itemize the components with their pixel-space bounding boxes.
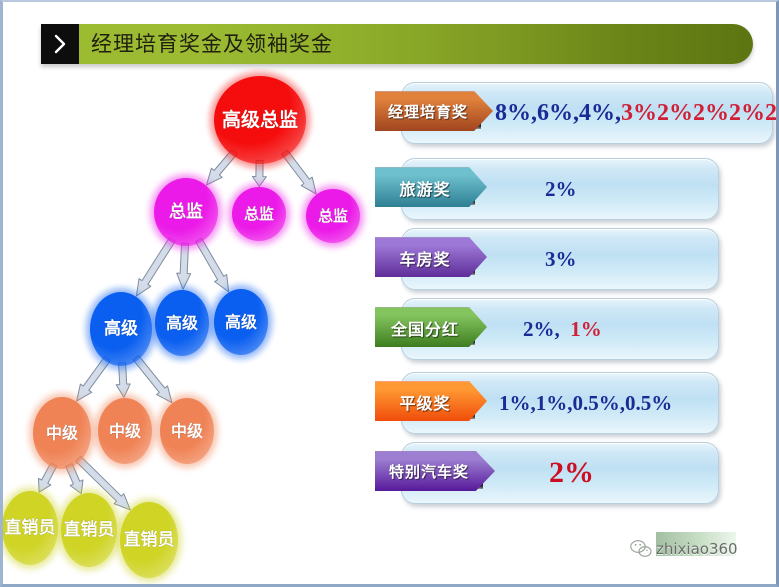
hierarchy-node[interactable]: 高级 [151,286,213,360]
bonus-category-badge[interactable]: 平级奖 [375,381,487,421]
bonus-value-segment: 8%,6%,4%, [495,100,621,127]
node-label: 总监 [318,207,348,225]
bonus-rows-panel: 8%,6%,4%,3%2%2%2%2%2%经理培育奖2%旅游奖3%车房奖2%, … [373,82,779,542]
page-title: 经理培育奖金及领袖奖金 [91,24,333,64]
bonus-value-segment: 2%, [523,317,560,342]
bonus-category-badge[interactable]: 全国分红 [375,307,487,347]
bonus-row: 3%车房奖 [373,228,721,294]
bonus-row: 2%旅游奖 [373,158,721,224]
node-label: 总监 [169,201,203,222]
hierarchy-node[interactable]: 中级 [156,394,218,468]
badge-arrow-shape: 经理培育奖 [375,91,493,131]
badge-label: 经理培育奖 [388,101,480,122]
hierarchy-arrow [136,238,175,297]
chevron-right-icon [41,24,79,64]
hierarchy-node[interactable]: 直销员 [116,498,182,582]
watermark: zhixiao360 [628,532,770,566]
node-label: 总监 [244,205,274,223]
node-label: 高级总监 [222,108,298,131]
bonus-row: 8%,6%,4%,3%2%2%2%2%2%经理培育奖 [373,82,775,148]
bonus-row: 2%特别汽车奖 [373,442,721,508]
hierarchy-node[interactable]: 直销员 [57,489,121,571]
node-label: 中级 [46,424,79,443]
node-label: 直销员 [5,517,56,538]
slide-canvas: 经理培育奖金及领袖奖金 高级总监总监总监总监高级高级高级中级中级中级直销员直销员… [0,0,779,587]
badge-label: 旅游奖 [399,176,462,200]
badge-label: 特别汽车奖 [389,461,481,482]
bonus-row-value: 2% [549,442,594,504]
bonus-value-segment: 3%2%2%2%2%2% [621,100,779,127]
bonus-category-badge[interactable]: 特别汽车奖 [375,451,495,491]
bonus-value-segment: 1% [560,317,602,342]
node-label: 高级 [104,318,138,339]
hierarchy-node[interactable]: 高级总监 [210,72,310,168]
node-label: 直销员 [124,529,175,550]
hierarchy-node[interactable]: 直销员 [3,487,62,569]
bonus-category-badge[interactable]: 旅游奖 [375,167,487,207]
node-label: 直销员 [64,519,115,540]
organization-hierarchy-diagram: 高级总监总监总监总监高级高级高级中级中级中级直销员直销员直销员 [3,68,373,586]
badge-arrow-shape: 特别汽车奖 [375,451,495,491]
hierarchy-node[interactable]: 中级 [94,394,156,468]
badge-arrow-shape: 平级奖 [375,381,487,421]
bonus-row-value: 8%,6%,4%,3%2%2%2%2%2% [495,82,779,144]
hierarchy-node[interactable]: 高级 [86,288,156,370]
bonus-row-value: 1%,1%,0.5%,0.5% [499,372,672,434]
bonus-value-segment: 1%,1%,0.5%,0.5% [499,391,672,416]
hierarchy-node[interactable]: 总监 [302,185,364,247]
badge-label: 车房奖 [399,246,462,270]
hierarchy-node[interactable]: 总监 [150,174,222,250]
bonus-row-value: 2%, 1% [523,298,602,360]
node-label: 中级 [171,422,204,441]
bonus-value-segment: 2% [545,177,577,202]
hierarchy-arrow [177,243,191,289]
bonus-row-value: 2% [545,158,577,220]
node-label: 高级 [166,314,199,333]
hierarchy-node[interactable]: 高级 [210,285,272,359]
wechat-logo-icon [628,536,654,562]
hierarchy-node[interactable]: 总监 [228,183,290,245]
badge-label: 全国分红 [391,316,471,340]
bonus-row: 2%, 1%全国分红 [373,298,721,364]
badge-label: 平级奖 [399,390,462,414]
bonus-row: 1%,1%,0.5%,0.5%平级奖 [373,372,721,438]
node-label: 高级 [225,313,258,332]
bonus-value-segment: 2% [549,456,594,490]
badge-arrow-shape: 旅游奖 [375,167,487,207]
hierarchy-node[interactable]: 中级 [29,393,95,473]
badge-arrow-shape: 车房奖 [375,237,487,277]
bonus-row-value: 3% [545,228,577,290]
bonus-category-badge[interactable]: 车房奖 [375,237,487,277]
slide-title-bar: 经理培育奖金及领袖奖金 [41,24,753,64]
bonus-category-badge[interactable]: 经理培育奖 [375,91,493,131]
node-label: 中级 [109,422,142,441]
badge-arrow-shape: 全国分红 [375,307,487,347]
watermark-text: zhixiao360 [656,540,738,558]
bonus-value-segment: 3% [545,247,577,272]
